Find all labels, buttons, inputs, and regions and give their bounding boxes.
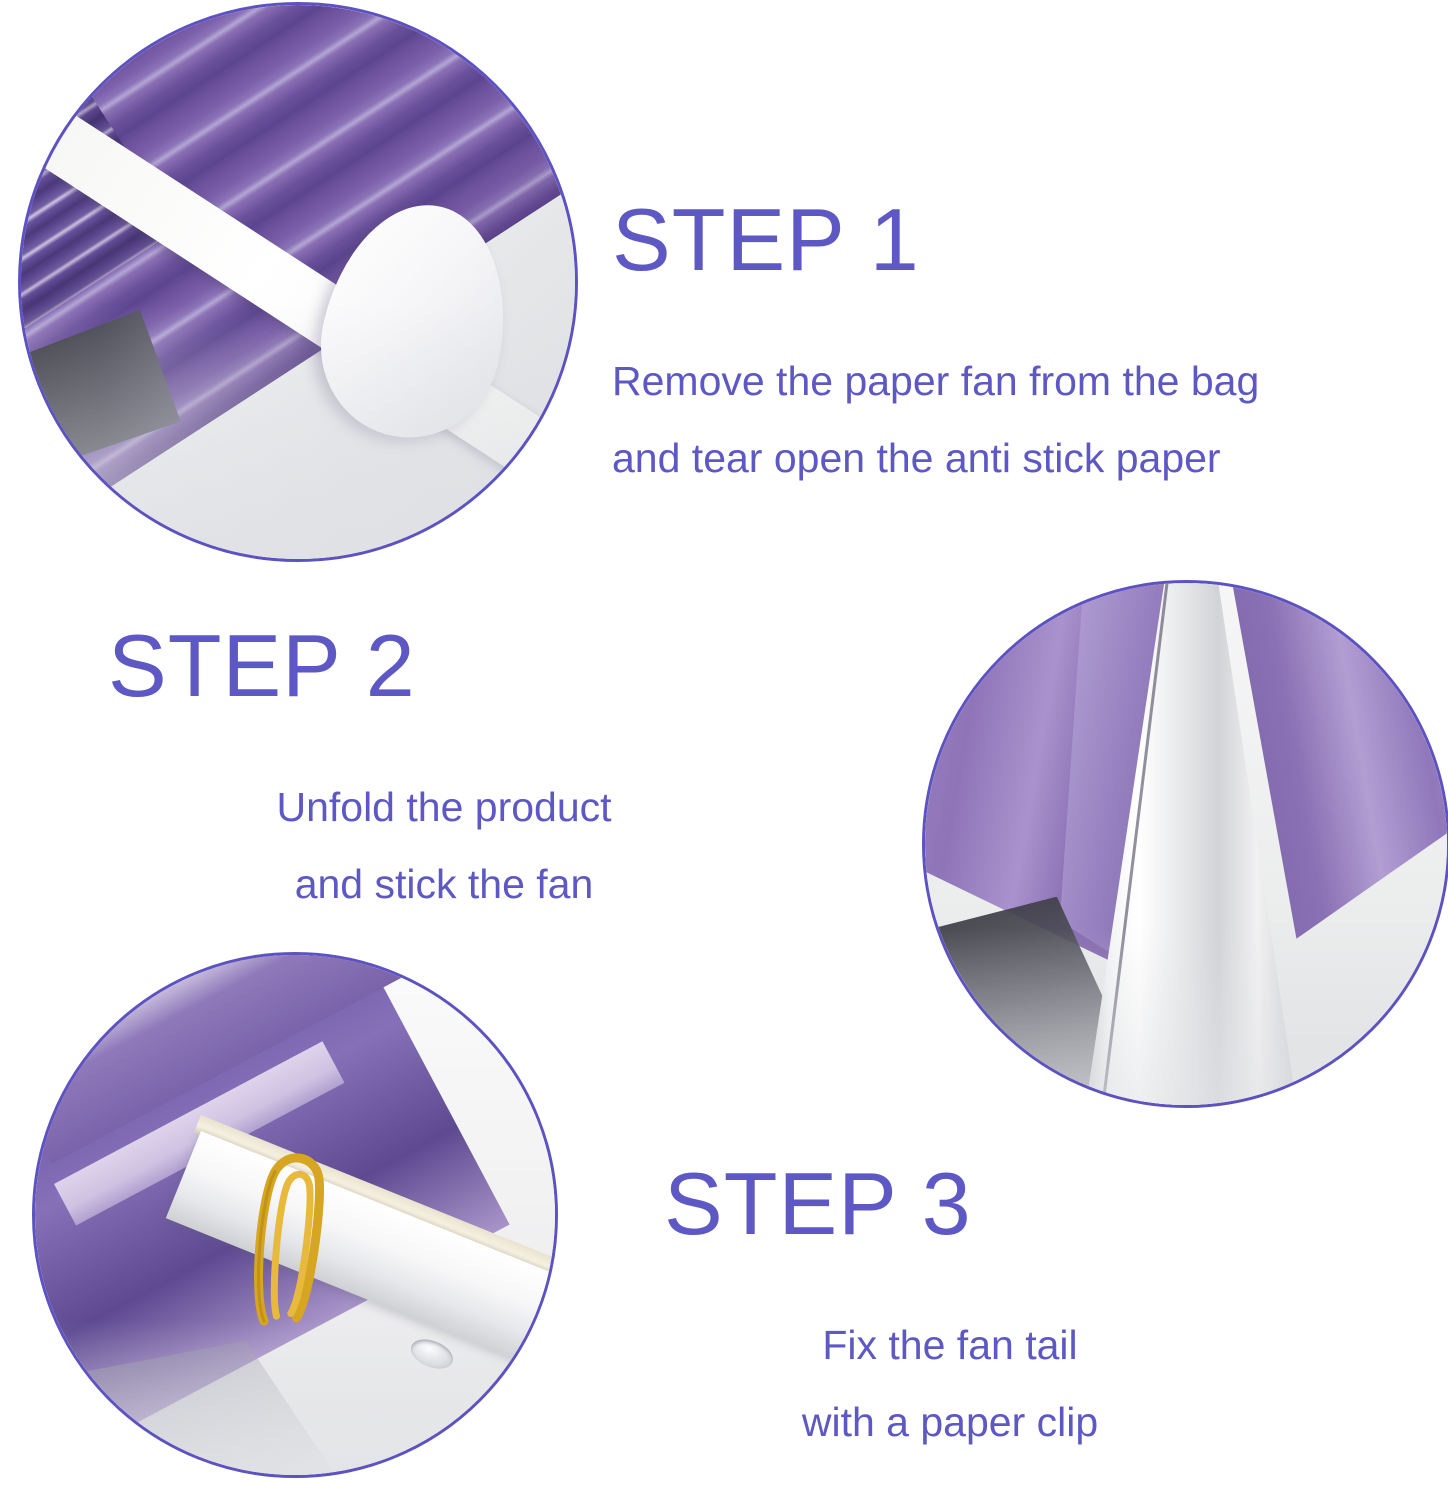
step-1-title: STEP 1 bbox=[612, 196, 1259, 284]
step-3-text-block: STEP 3 Fix the fan tail with a paper cli… bbox=[664, 1160, 1236, 1446]
step-2-photo-circle bbox=[922, 580, 1448, 1108]
step-3-line-1: Fix the fan tail bbox=[664, 1322, 1236, 1369]
step-3-title: STEP 3 bbox=[664, 1160, 1236, 1248]
step-1-photo-circle bbox=[18, 2, 578, 562]
step-1-line-2: and tear open the anti stick paper bbox=[612, 435, 1259, 482]
step-1-photo-inner bbox=[19, 3, 577, 561]
photo-vignette bbox=[19, 304, 577, 561]
step-2-line-2: and stick the fan bbox=[108, 861, 780, 908]
step-1-text-block: STEP 1 Remove the paper fan from the bag… bbox=[612, 196, 1259, 482]
instruction-poster: STEP 1 Remove the paper fan from the bag… bbox=[0, 0, 1448, 1500]
step-2-lines: Unfold the product and stick the fan bbox=[108, 784, 780, 908]
photo-vignette bbox=[923, 928, 1448, 1107]
step-2-text-block: STEP 2 Unfold the product and stick the … bbox=[108, 622, 780, 908]
step-2-photo-inner bbox=[923, 581, 1448, 1107]
step-1-line-1: Remove the paper fan from the bag bbox=[612, 358, 1259, 405]
photo-vignette bbox=[33, 1320, 557, 1477]
step-2-line-1: Unfold the product bbox=[108, 784, 780, 831]
step-3-photo-inner bbox=[33, 953, 557, 1477]
step-2-title: STEP 2 bbox=[108, 622, 780, 710]
step-3-photo-circle bbox=[32, 952, 558, 1478]
step-3-lines: Fix the fan tail with a paper clip bbox=[664, 1322, 1236, 1446]
step-3-line-2: with a paper clip bbox=[664, 1399, 1236, 1446]
